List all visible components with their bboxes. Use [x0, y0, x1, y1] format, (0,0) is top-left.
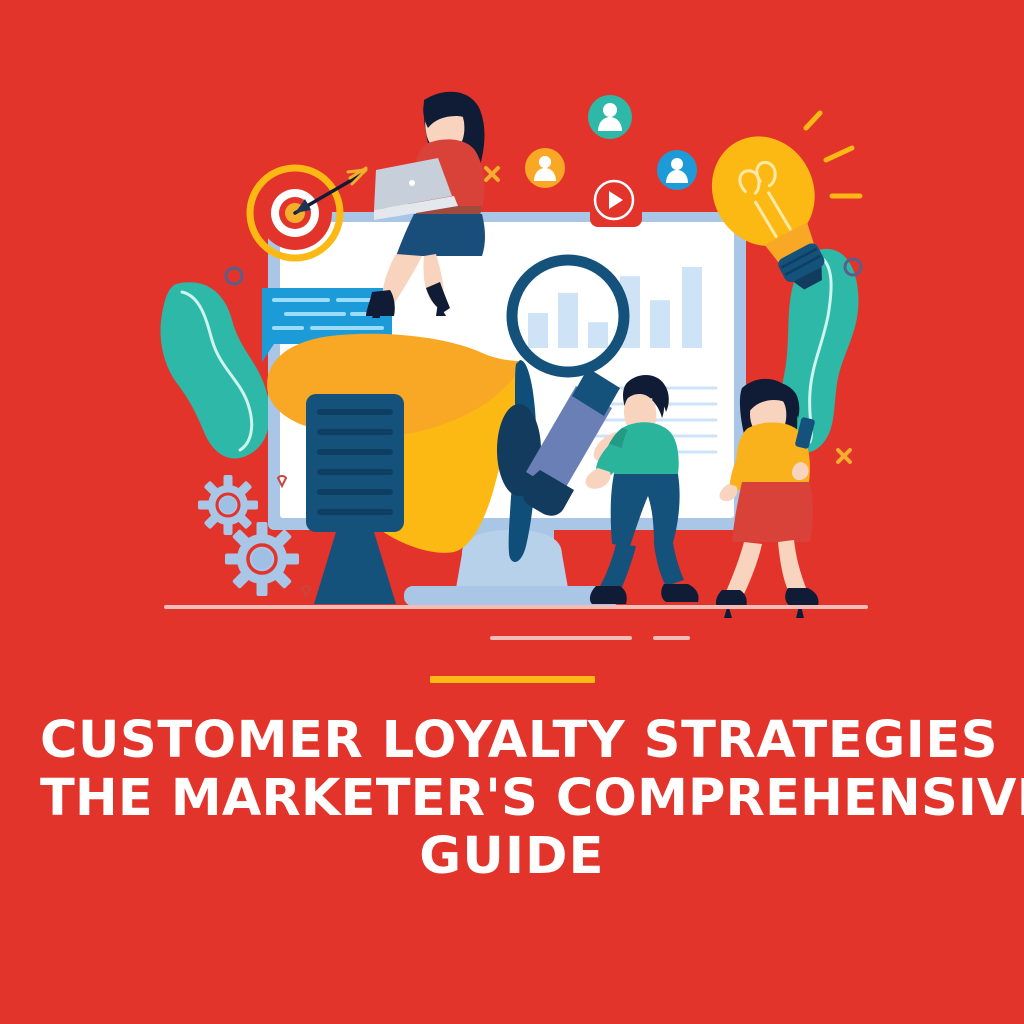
hero-illustration	[0, 0, 1024, 700]
avatar-icon-yellow	[525, 148, 565, 188]
avatar-icon-teal	[588, 95, 632, 139]
play-button-icon[interactable]	[590, 175, 642, 227]
title-divider	[430, 676, 595, 683]
title-line-2: THE MARKETER'S COMPREHENSIVE	[40, 770, 984, 828]
page-title: CUSTOMER LOYALTY STRATEGIES THE MARKETER…	[0, 712, 1024, 886]
avatar-icon-blue	[657, 150, 697, 190]
title-line-3: GUIDE	[40, 828, 984, 886]
poster-canvas: CUSTOMER LOYALTY STRATEGIES THE MARKETER…	[0, 0, 1024, 1024]
gear-icon-large	[225, 522, 299, 596]
gear-icon-small	[198, 475, 258, 535]
title-line-1: CUSTOMER LOYALTY STRATEGIES	[40, 712, 984, 770]
title-divider-wrap	[0, 670, 1024, 688]
